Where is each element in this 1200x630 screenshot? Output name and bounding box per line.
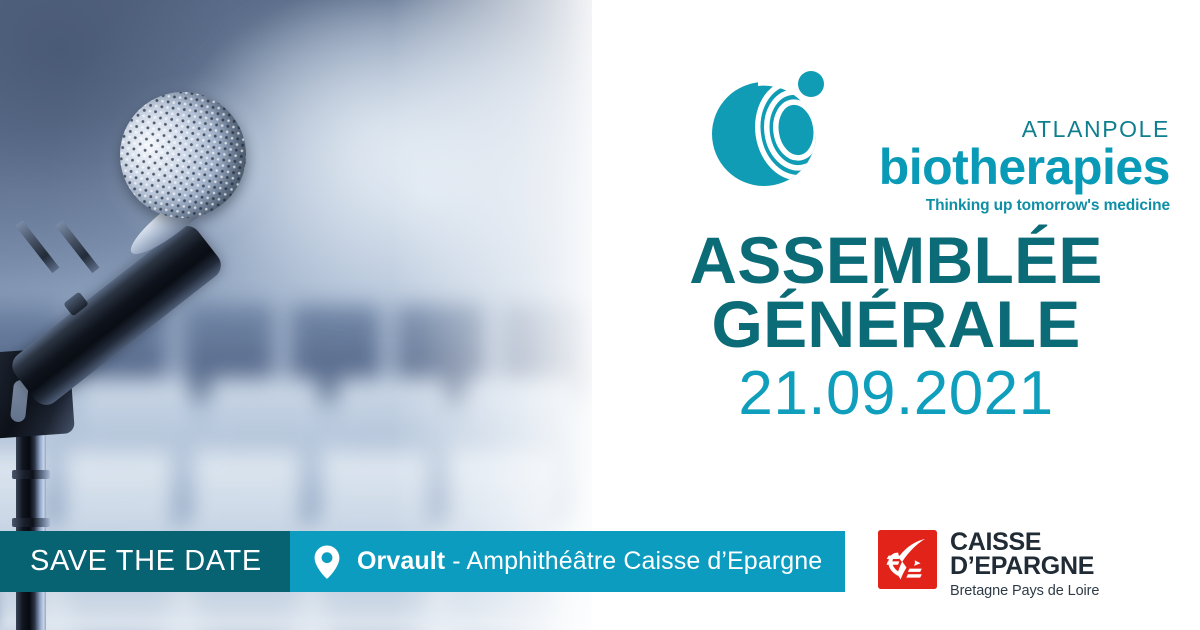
location-bar: Orvault - Amphithéâtre Caisse d’Epargne [290,531,845,592]
atlanpole-wordmark: ATLANPOLE biotherapies Thinking up tomor… [838,118,1170,214]
save-the-date-label: SAVE THE DATE [0,545,262,578]
location-city: Orvault [357,547,445,575]
partner-region: Bretagne Pays de Loire [950,584,1099,599]
headline-line-2: GÉNÉRALE [592,292,1200,356]
map-pin-icon [314,545,340,579]
caisse-epargne-euro-squirrel-icon [878,530,937,589]
brand-name-main: biotherapies [838,142,1170,193]
brand-tagline: Thinking up tomorrow's medicine [838,198,1170,214]
event-date: 21.09.2021 [592,356,1200,432]
location-separator: - [445,547,466,575]
headline-line-1: ASSEMBLÉE [592,228,1200,292]
caisse-epargne-wordmark: CAISSE D’EPARGNE Bretagne Pays de Loire [950,530,1099,598]
event-poster: ATLANPOLE biotherapies Thinking up tomor… [0,0,1200,630]
save-the-date-bar: SAVE THE DATE [0,531,290,592]
atlanpole-circle-logo-icon [710,68,838,188]
headline-block: ASSEMBLÉE GÉNÉRALE 21.09.2021 [592,228,1200,432]
partner-name-line-2: D’EPARGNE [950,555,1099,579]
location-text: Orvault - Amphithéâtre Caisse d’Epargne [357,547,822,576]
brand-name-top: ATLANPOLE [838,118,1170,141]
atlanpole-biotherapies-logo: ATLANPOLE biotherapies Thinking up tomor… [710,68,1170,214]
caisse-epargne-logo: CAISSE D’EPARGNE Bretagne Pays de Loire [878,530,1123,594]
location-venue: Amphithéâtre Caisse d’Epargne [466,547,822,575]
